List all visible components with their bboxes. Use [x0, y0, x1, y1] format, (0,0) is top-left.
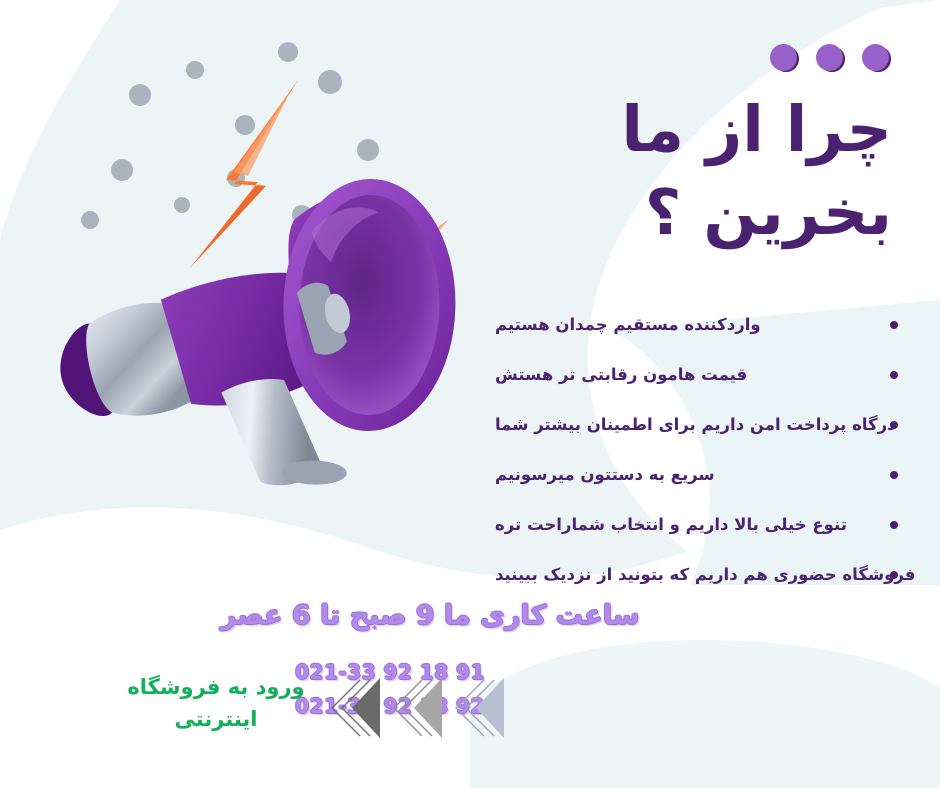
page-title-line-1: چرا از ما: [472, 88, 892, 171]
list-item-label: سریع به دستتون میرسونیم: [495, 450, 715, 500]
list-item: واردکننده مستقیم چمدان هستیم: [440, 300, 940, 350]
background-blob-topleft: [0, 0, 120, 240]
lightning-bolt-upper: [190, 80, 298, 268]
purple-dot-fill-1: [862, 44, 889, 71]
list-item: سریع به دستتون میرسونیم: [440, 450, 940, 500]
poster-canvas: چرا از ما بخرین ؟ واردکننده مستقیم چمدان…: [0, 0, 940, 788]
list-item-label: فروشگاه حضوری هم داریم که بتونید از نزدی…: [495, 550, 915, 600]
bullet-dot-icon: [890, 371, 898, 379]
purple-dot-3: [770, 44, 800, 74]
online-store-cta[interactable]: ورود به فروشگاه اینترنتی: [118, 672, 314, 735]
bullet-dot-icon: [890, 471, 898, 479]
megaphone-collar: [78, 296, 197, 426]
bullet-dot-icon: [890, 571, 898, 579]
page-title: چرا از ما بخرین ؟: [472, 88, 892, 254]
left-chevron-arrow-1: [332, 678, 380, 738]
purple-dots-row: [770, 44, 892, 74]
purple-dot-fill-3: [770, 44, 797, 71]
megaphone-cone-highlight: [308, 202, 387, 265]
lightning-bolt-lower: [296, 220, 448, 360]
megaphone-cone-rim: [281, 178, 457, 433]
working-hours-label: ساعت کاری ما 9 صبح تا 6 عصر: [221, 600, 640, 631]
list-item-label: واردکننده مستقیم چمدان هستیم: [495, 300, 761, 350]
list-item: فروشگاه حضوری هم داریم که بتونید از نزدی…: [440, 550, 940, 600]
list-item-label: درگاه پرداخت امن داریم برای اطمینان بیشت…: [495, 400, 896, 450]
bullet-dot-icon: [890, 321, 898, 329]
megaphone-illustration: [30, 30, 510, 500]
list-item-label: تنوع خیلی بالا داریم و انتخاب شماراحت تر…: [495, 500, 847, 550]
left-chevron-arrow-2: [394, 678, 442, 738]
online-store-cta-line-1: ورود به فروشگاه: [118, 672, 314, 704]
list-item: درگاه پرداخت امن داریم برای اطمینان بیشت…: [440, 400, 940, 450]
list-item-label: قیمت هامون رقابتی تر هستش: [495, 350, 747, 400]
list-item: تنوع خیلی بالا داریم و انتخاب شماراحت تر…: [440, 500, 940, 550]
purple-dot-2: [816, 44, 846, 74]
bullet-dot-icon: [890, 421, 898, 429]
left-chevron-arrow-3: [456, 678, 504, 738]
confetti-dots: [81, 42, 423, 397]
left-arrows-group: [328, 668, 518, 748]
list-item: قیمت هامون رقابتی تر هستش: [440, 350, 940, 400]
purple-dot-fill-2: [816, 44, 843, 71]
megaphone-handle: [220, 364, 352, 500]
working-hours: ساعت کاری ما 9 صبح تا 6 عصر: [0, 600, 940, 631]
megaphone-back-cap: [56, 318, 138, 418]
megaphone-body: [30, 140, 510, 500]
online-store-cta-line-2: اینترنتی: [118, 704, 314, 736]
benefits-list: واردکننده مستقیم چمدان هستیم قیمت هامون …: [440, 300, 940, 600]
megaphone-tube: [160, 258, 342, 417]
bullet-dot-icon: [890, 521, 898, 529]
megaphone-cone-mouth: [298, 194, 442, 416]
page-title-line-2: بخرین ؟: [472, 171, 892, 254]
megaphone-back-cap-shade: [51, 323, 114, 424]
purple-dot-1: [862, 44, 892, 74]
megaphone-inner-mic: [296, 277, 358, 359]
